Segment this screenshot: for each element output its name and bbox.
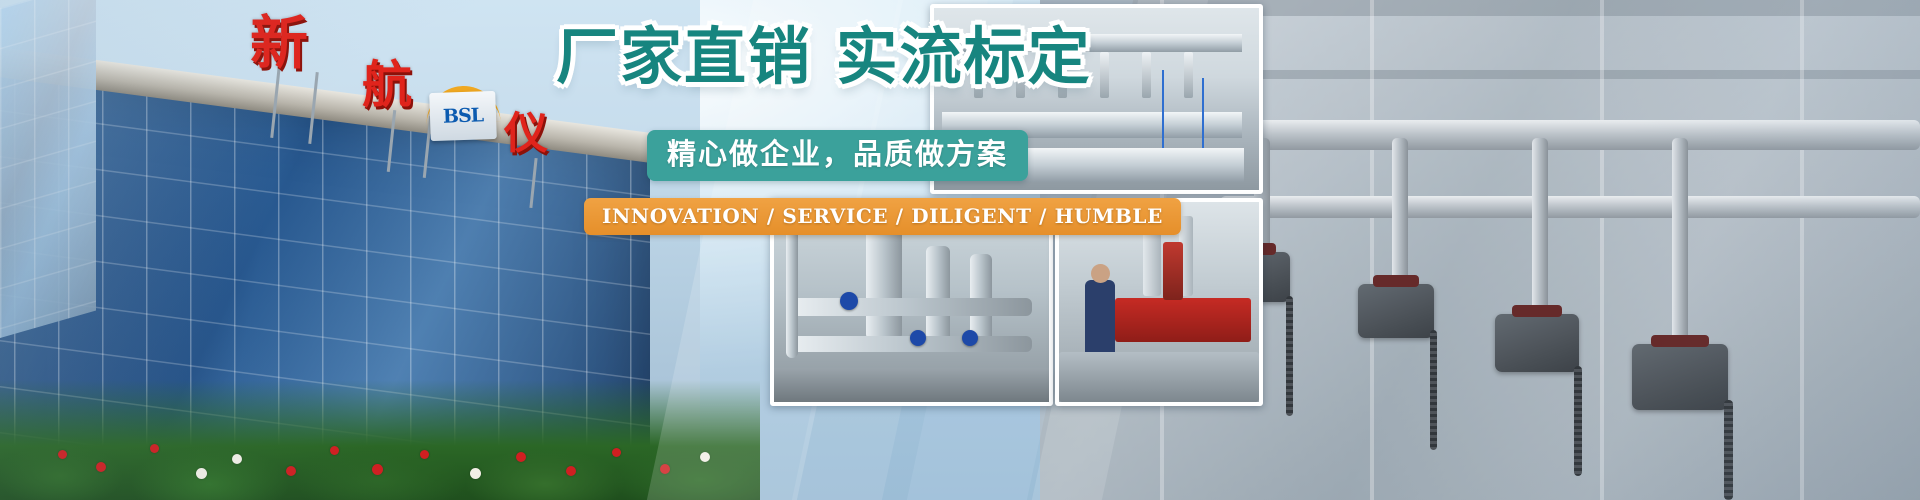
banner-subtitle-text: 精心做企业，品质做方案 xyxy=(667,137,1008,171)
rooftop-sign: 新 航 仪 xyxy=(250,8,580,158)
rooftop-sign-char-1: 新 xyxy=(250,14,308,72)
bsl-logo-plate: BSL xyxy=(429,91,497,141)
rooftop-sign-char-3: 仪 xyxy=(504,112,548,156)
banner-headline: 厂家直销 实流标定 xyxy=(556,26,1076,88)
garden-shrubs xyxy=(0,380,760,500)
bsl-logo-text: BSL xyxy=(443,104,484,127)
rooftop-sign-char-2: 航 xyxy=(362,60,412,110)
building-side-wing xyxy=(0,0,96,338)
banner-subtitle-bar: 精心做企业，品质做方案 xyxy=(647,130,1028,181)
headline-block: 厂家直销 实流标定 精心做企业，品质做方案 INNOVATION / SERVI… xyxy=(556,26,1076,246)
promo-banner: 新 航 仪 BSL xyxy=(0,0,1920,500)
english-tagline-bar: INNOVATION / SERVICE / DILIGENT / HUMBLE xyxy=(584,198,1181,235)
english-tagline-text: INNOVATION / SERVICE / DILIGENT / HUMBLE xyxy=(602,204,1163,228)
